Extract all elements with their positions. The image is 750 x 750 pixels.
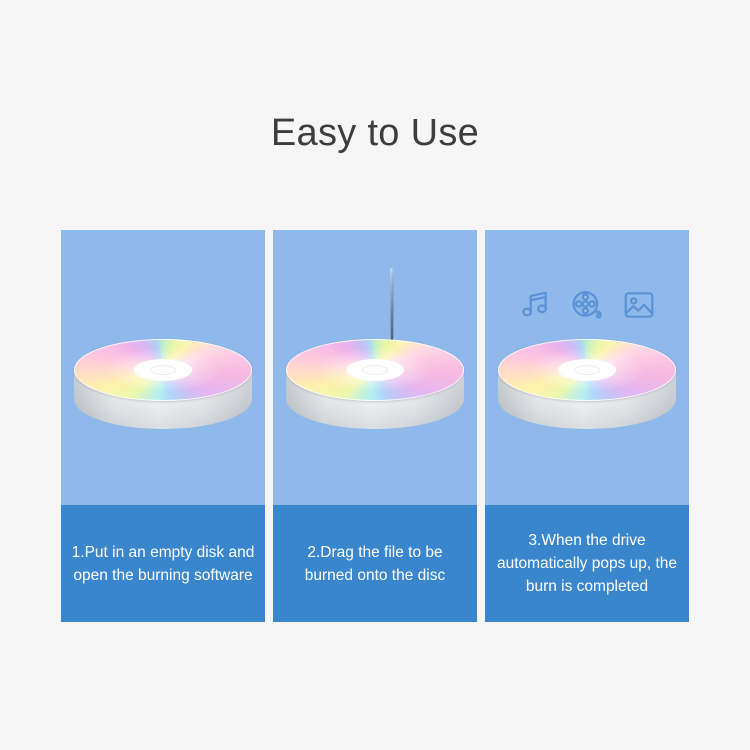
step-1-caption-text: 1.Put in an empty disk and open the burn… <box>71 541 255 587</box>
page-title: Easy to Use <box>0 112 750 155</box>
step-3-caption-text: 3.When the drive automatically pops up, … <box>495 529 679 598</box>
step-1-caption: 1.Put in an empty disk and open the burn… <box>61 505 265 622</box>
film-reel-icon <box>570 288 604 322</box>
step-2-caption-text: 2.Drag the file to be burned onto the di… <box>283 541 467 587</box>
disc-center-hole <box>362 365 388 375</box>
cd-disc-icon <box>286 339 464 447</box>
disc-center-hole <box>150 365 176 375</box>
step-2-artwork <box>273 230 477 505</box>
step-3-artwork <box>485 230 689 505</box>
step-2-caption: 2.Drag the file to be burned onto the di… <box>273 505 477 622</box>
disc-center-hole <box>574 365 600 375</box>
step-panel-2: 2.Drag the file to be burned onto the di… <box>273 230 477 622</box>
steps-container: 1.Put in an empty disk and open the burn… <box>61 230 689 622</box>
step-3-caption: 3.When the drive automatically pops up, … <box>485 505 689 622</box>
step-panel-3: 3.When the drive automatically pops up, … <box>485 230 689 622</box>
cd-disc-icon <box>498 339 676 447</box>
cd-disc-icon <box>74 339 252 447</box>
step-1-artwork <box>61 230 265 505</box>
photo-image-icon <box>622 288 656 322</box>
step-panel-1: 1.Put in an empty disk and open the burn… <box>61 230 265 622</box>
music-note-icon <box>518 288 552 322</box>
media-icons-group <box>485 288 689 322</box>
